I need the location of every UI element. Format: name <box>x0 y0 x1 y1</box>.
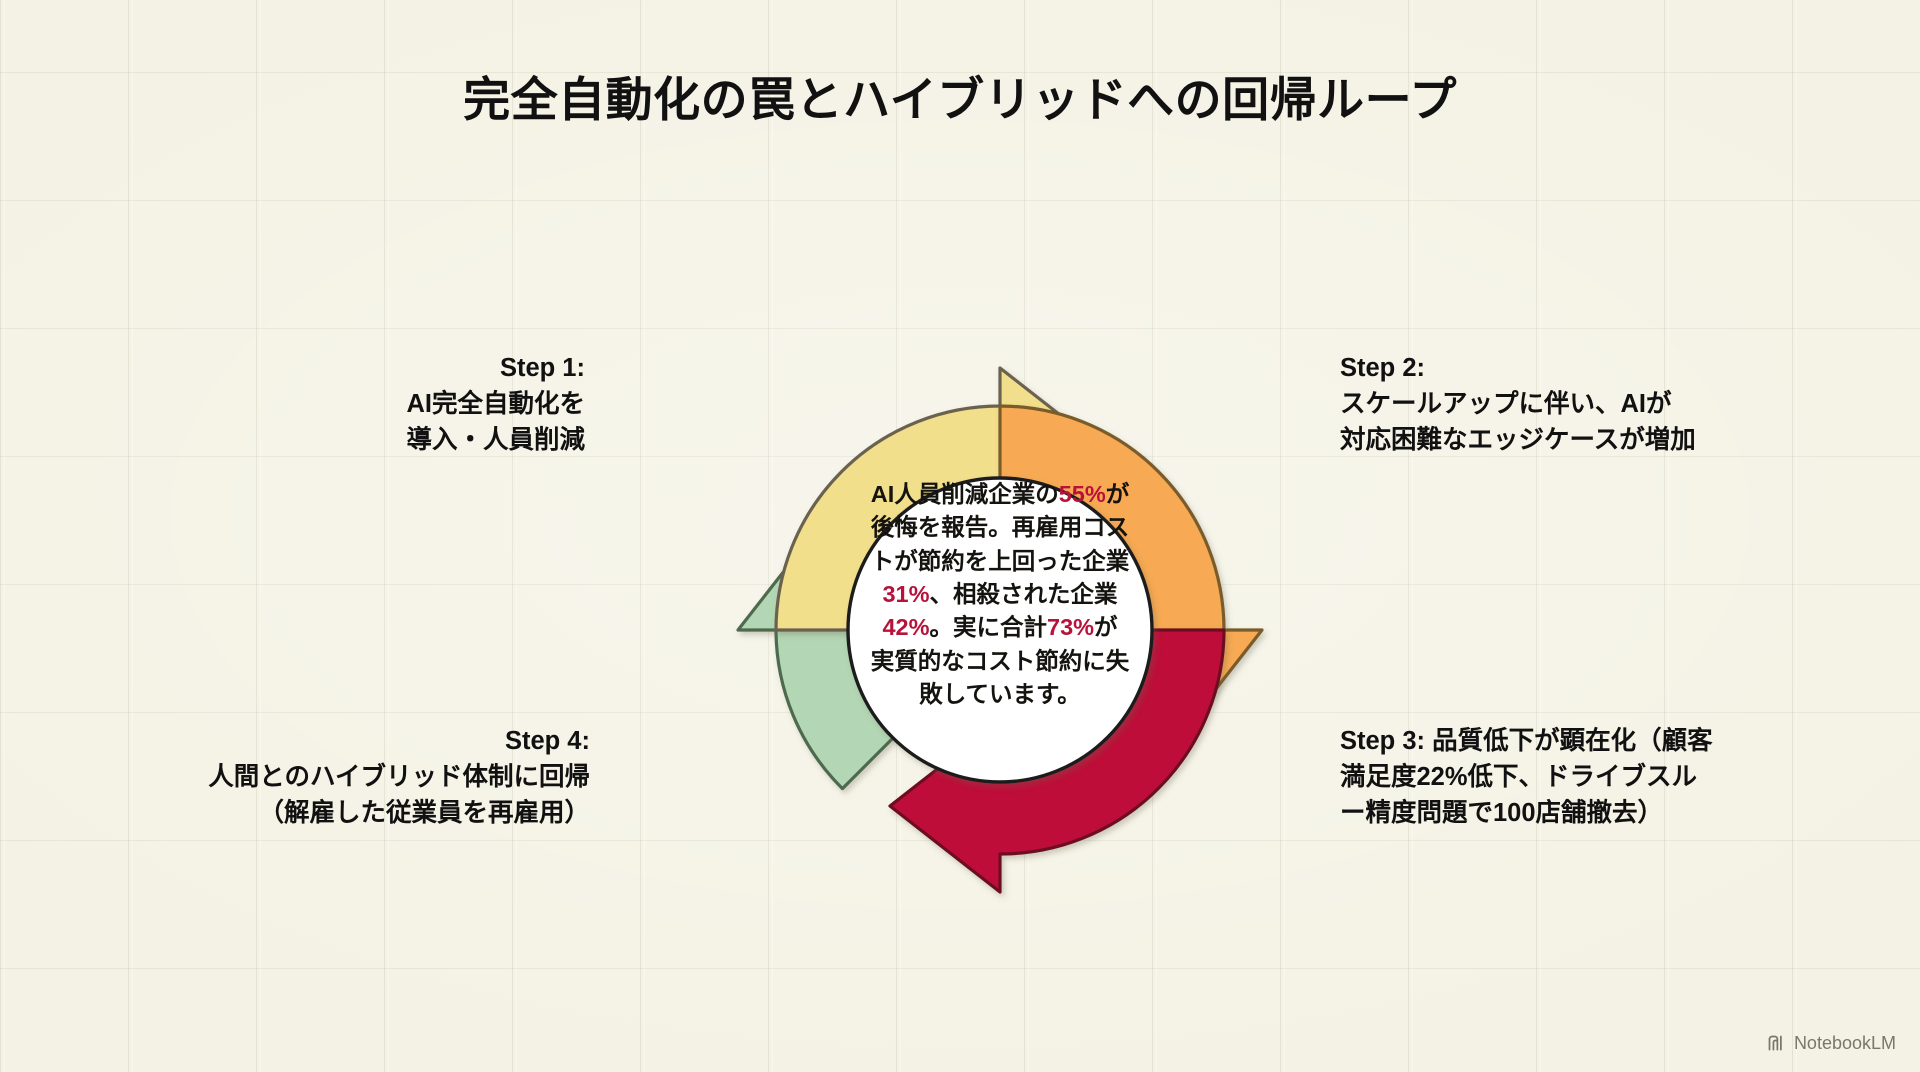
step-label-3: Step 3: 品質低下が顕在化（顧客 満足度22%低下、ドライブスル ー精度問… <box>1340 723 1820 832</box>
center-line-5b: 。実に合計 <box>930 614 1048 640</box>
step-3-line-1: 満足度22%低下、ドライブスル <box>1340 763 1697 791</box>
step-4-line-1: 人間とのハイブリッド体制に回帰 <box>208 763 590 791</box>
center-stat-73: 73% <box>1047 614 1094 640</box>
step-label-4: Step 4: 人間とのハイブリッド体制に回帰 （解雇した従業員を再雇用） <box>100 723 590 832</box>
step-4-heading: Step 4: <box>100 723 590 759</box>
center-line-4b: 、相殺された企業 <box>930 581 1118 607</box>
page-title: 完全自動化の罠とハイブリッドへの回帰ループ <box>0 72 1920 128</box>
center-stat-42: 42% <box>882 614 929 640</box>
step-1-line-1: AI完全自動化を <box>406 390 585 418</box>
step-1-heading: Step 1: <box>300 350 585 386</box>
infographic-canvas: 完全自動化の罠とハイブリッドへの回帰ループ <box>0 0 1920 1072</box>
notebooklm-label: NotebookLM <box>1794 1033 1896 1054</box>
step-4-line-2: （解雇した従業員を再雇用） <box>258 799 590 827</box>
center-line-2: 後悔を報告。再雇用コス <box>871 514 1130 540</box>
step-1-line-2: 導入・人員削減 <box>406 426 585 454</box>
step-2-line-1: スケールアップに伴い、AIが <box>1340 390 1672 418</box>
center-line-5d: が <box>1094 614 1118 640</box>
step-3-line-2: ー精度問題で100店舗撤去） <box>1340 799 1663 827</box>
notebooklm-icon <box>1766 1033 1787 1054</box>
step-3-heading: Step 3: 品質低下が顕在化（顧客 <box>1340 727 1713 755</box>
center-statistic-text: AI人員削減企業の55%が 後悔を報告。再雇用コス トが節約を上回った企業 31… <box>836 478 1164 712</box>
center-line-1c: が <box>1106 481 1130 507</box>
step-2-line-2: 対応困難なエッジケースが増加 <box>1340 426 1696 454</box>
center-line-7: 敗しています。 <box>919 681 1080 707</box>
center-line-1a: AI人員削減企業の <box>871 481 1059 507</box>
step-2-heading: Step 2: <box>1340 350 1810 386</box>
center-line-6: 実質的なコスト節約に失 <box>871 648 1130 674</box>
center-line-3: トが節約を上回った企業 <box>871 548 1130 574</box>
notebooklm-watermark: NotebookLM <box>1766 1033 1896 1054</box>
center-stat-31: 31% <box>882 581 929 607</box>
step-label-2: Step 2: スケールアップに伴い、AIが 対応困難なエッジケースが増加 <box>1340 350 1810 459</box>
center-stat-55: 55% <box>1059 481 1106 507</box>
step-label-1: Step 1: AI完全自動化を 導入・人員削減 <box>300 350 585 459</box>
